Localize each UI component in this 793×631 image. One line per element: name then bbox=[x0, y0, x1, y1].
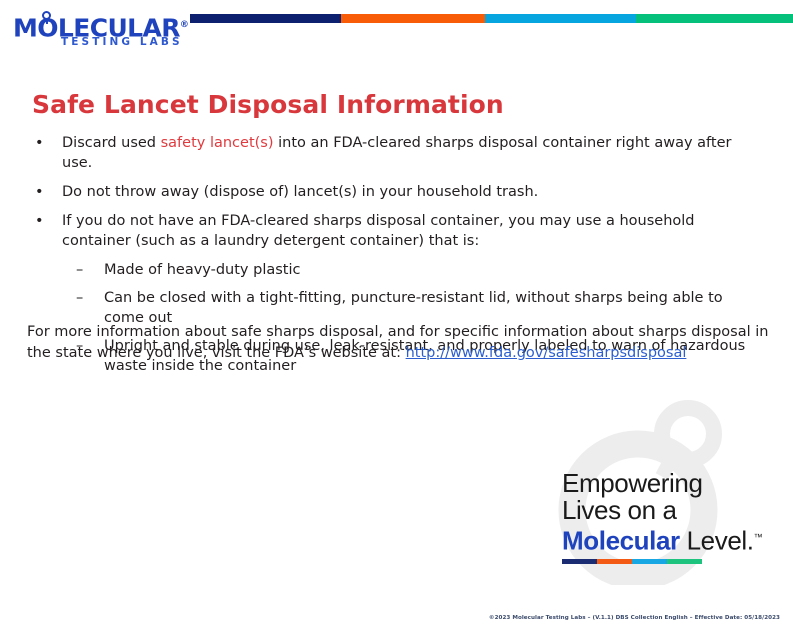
tagline-line-3-rest: Level. bbox=[680, 526, 754, 556]
bullet-text: Discard used safety lancet(s) into an FD… bbox=[62, 133, 765, 173]
page-title: Safe Lancet Disposal Information bbox=[32, 90, 504, 120]
dash-marker-icon: – bbox=[76, 260, 104, 280]
bullet-text: If you do not have an FDA-cleared sharps… bbox=[62, 211, 765, 251]
tagline-logo: Empowering Lives on a Molecular Level.™ bbox=[548, 400, 763, 585]
color-segment-light-blue bbox=[632, 559, 667, 564]
fda-sharps-disposal-link[interactable]: http://www.fda.gov/safesharpsdisposal bbox=[406, 345, 687, 361]
bullet-text-pre: Discard used bbox=[62, 135, 161, 151]
tagline-line-3: Molecular Level.™ bbox=[562, 524, 762, 555]
color-segment-orange bbox=[597, 559, 632, 564]
color-segment-green bbox=[667, 559, 702, 564]
color-segment-navy bbox=[190, 14, 341, 23]
color-segment-orange bbox=[341, 14, 486, 23]
page-header: MOLECULAR® TESTING LABS bbox=[0, 0, 793, 56]
footer-copyright: ©2023 Molecular Testing Labs – (V.1.1) D… bbox=[0, 615, 780, 621]
dash-marker-icon: – bbox=[76, 288, 104, 308]
color-segment-navy bbox=[562, 559, 597, 564]
tagline-color-bar bbox=[562, 559, 702, 564]
tagline-line-2: Lives on a bbox=[562, 497, 762, 524]
trademark-icon: ™ bbox=[754, 532, 763, 542]
tagline-line-1: Empowering bbox=[562, 470, 762, 497]
color-segment-light-blue bbox=[485, 14, 636, 23]
sub-list-item-label: Made of heavy-duty plastic bbox=[104, 260, 765, 280]
list-item: • Do not throw away (dispose of) lancet(… bbox=[30, 182, 765, 202]
bullet-marker-icon: • bbox=[30, 133, 62, 153]
molecule-stem-icon bbox=[46, 18, 48, 24]
registered-trademark-icon: ® bbox=[180, 20, 188, 30]
bullet-text: Do not throw away (dispose of) lancet(s)… bbox=[62, 182, 765, 202]
logo-subtitle: TESTING LABS bbox=[61, 37, 183, 48]
color-segment-green bbox=[636, 14, 793, 23]
molecular-testing-labs-logo: MOLECULAR® TESTING LABS bbox=[13, 9, 183, 49]
bullet-text-highlight: safety lancet(s) bbox=[161, 135, 274, 151]
list-item: • If you do not have an FDA-cleared shar… bbox=[30, 211, 765, 251]
list-item: • Discard used safety lancet(s) into an … bbox=[30, 133, 765, 173]
closing-paragraph: For more information about safe sharps d… bbox=[27, 322, 769, 364]
tagline-text: Empowering Lives on a Molecular Level.™ bbox=[562, 470, 762, 555]
bullet-marker-icon: • bbox=[30, 211, 62, 231]
sub-list-item: – Made of heavy-duty plastic bbox=[76, 260, 765, 280]
header-color-bar bbox=[190, 14, 793, 23]
tagline-brand-word: Molecular bbox=[562, 526, 680, 556]
bullet-marker-icon: • bbox=[30, 182, 62, 202]
